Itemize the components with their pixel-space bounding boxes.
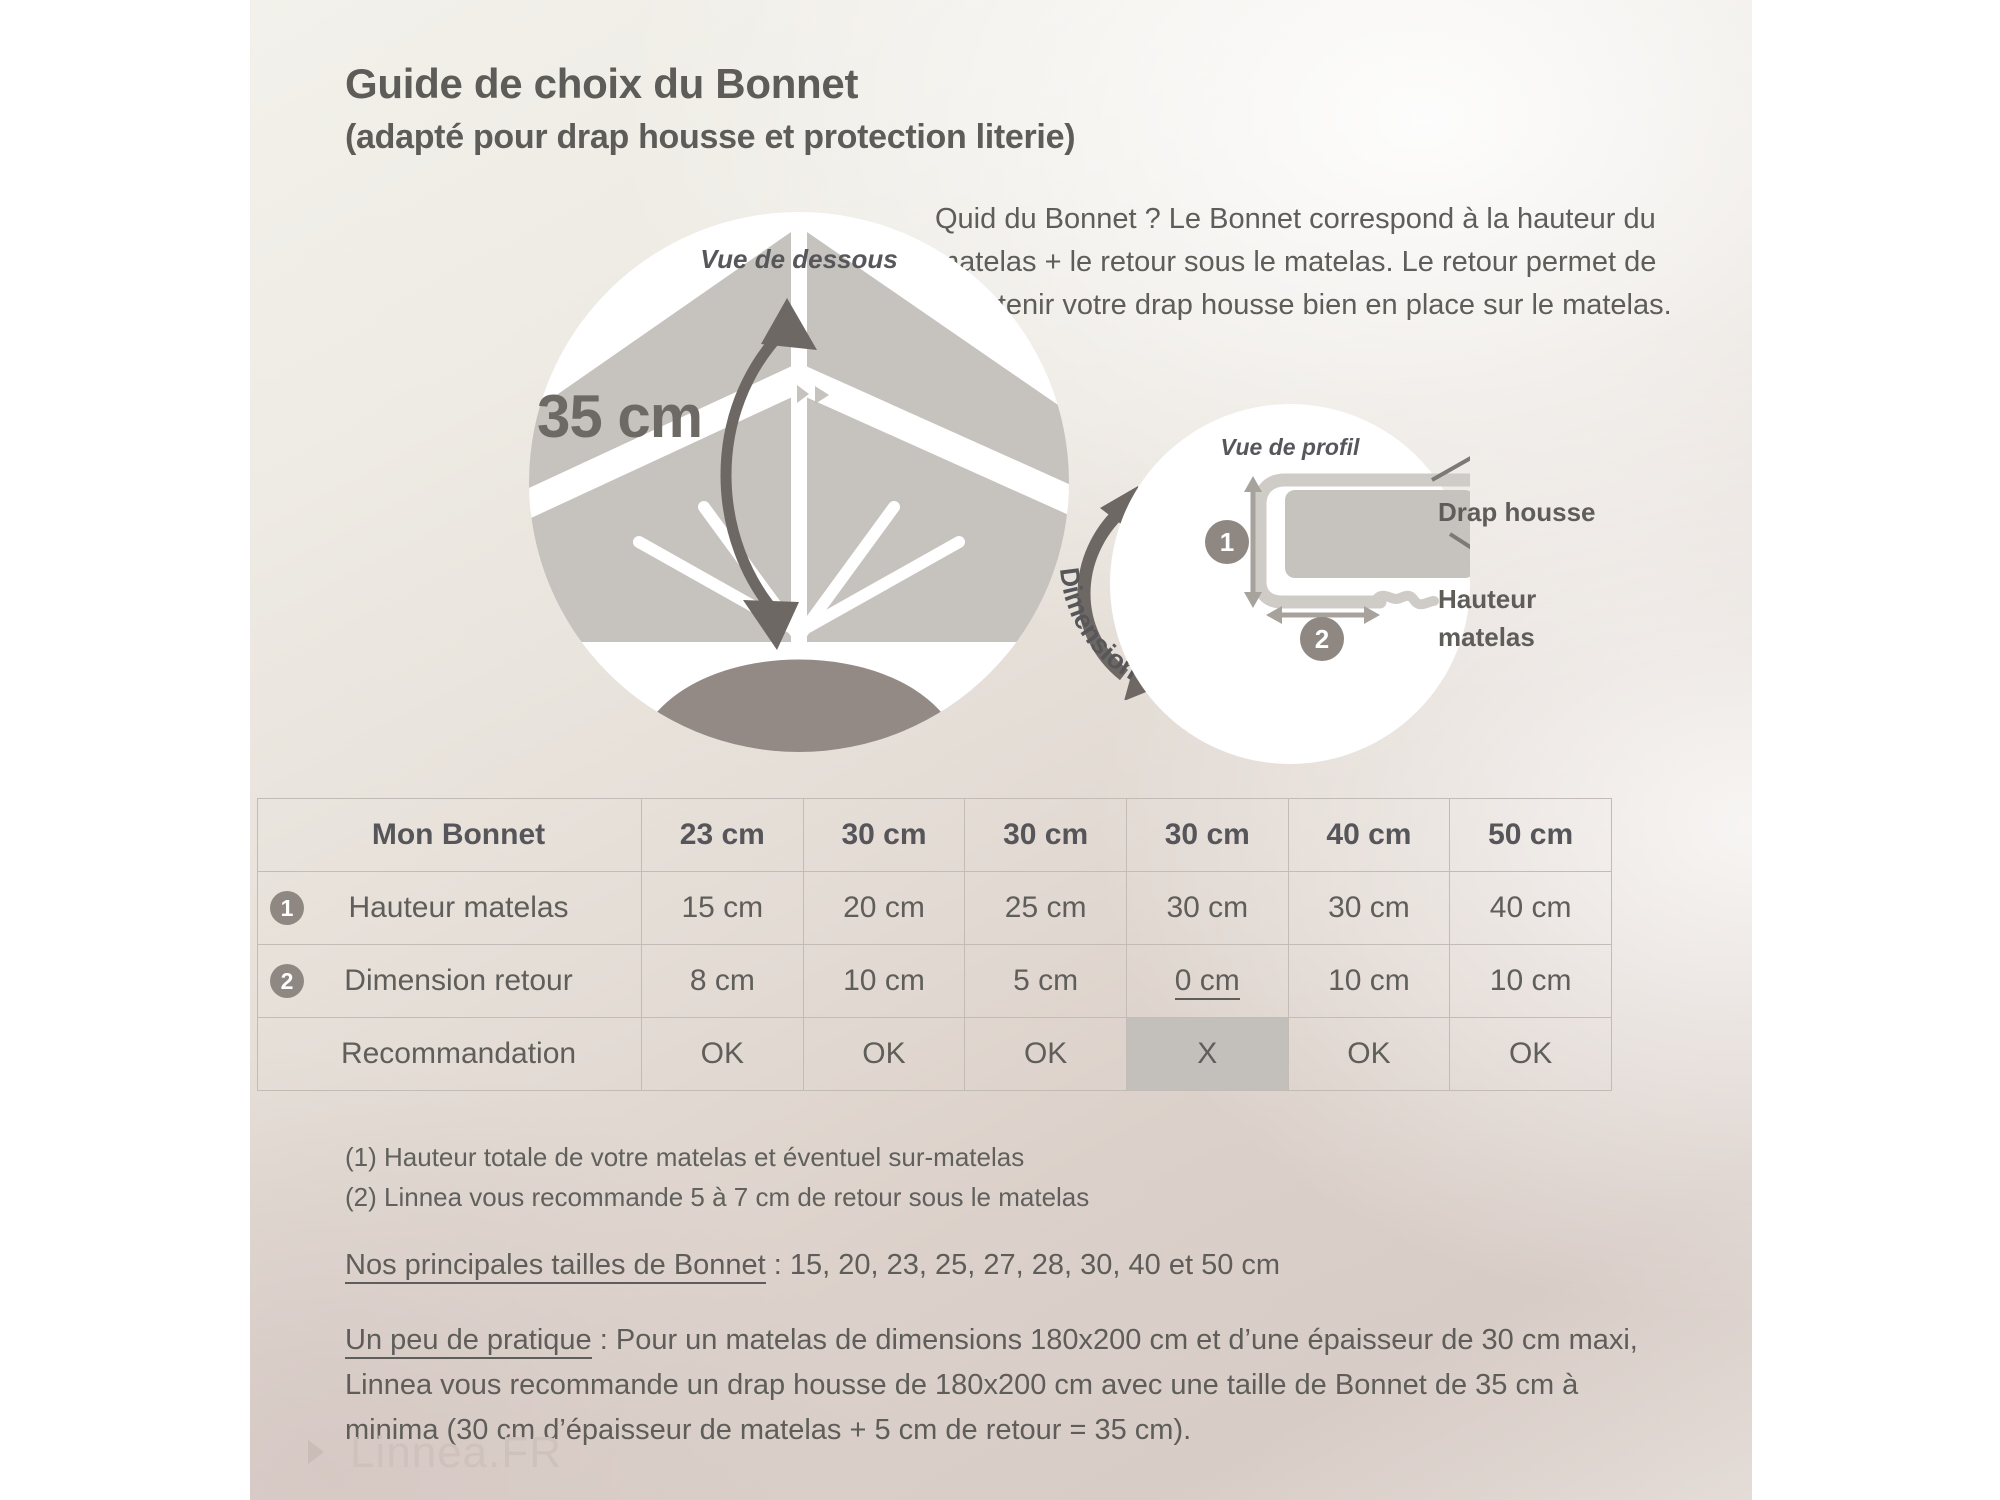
infographic-canvas: Guide de choix du Bonnet (adapté pour dr… bbox=[250, 0, 1752, 1500]
logo-text: Linnea.FR bbox=[350, 1428, 562, 1478]
cell-reco-2: OK bbox=[803, 1018, 965, 1091]
callout-hauteur-line2: matelas bbox=[1438, 618, 1536, 656]
cell-hauteur-5: 30 cm bbox=[1288, 872, 1450, 945]
cell-reco-4: X bbox=[1126, 1018, 1288, 1091]
row-label-mon-bonnet: Mon Bonnet bbox=[258, 799, 642, 872]
cell-retour-6: 10 cm bbox=[1450, 945, 1612, 1018]
table-row: Recommandation OK OK OK X OK OK bbox=[258, 1018, 1612, 1091]
cell-retour-1: 8 cm bbox=[642, 945, 804, 1018]
sizes-value: : 15, 20, 23, 25, 27, 28, 30, 40 et 50 c… bbox=[766, 1249, 1280, 1281]
cell-mon-bonnet-5: 40 cm bbox=[1288, 799, 1450, 872]
row-label-recommandation: Recommandation bbox=[258, 1018, 642, 1091]
cell-hauteur-6: 40 cm bbox=[1450, 872, 1612, 945]
brand-logo: Linnea.FR bbox=[288, 1428, 562, 1478]
cell-reco-1: OK bbox=[642, 1018, 804, 1091]
callout-drap-housse: Drap housse bbox=[1438, 497, 1596, 528]
page-title: Guide de choix du Bonnet bbox=[345, 60, 858, 108]
bonnet-size-table: Mon Bonnet 23 cm 30 cm 30 cm 30 cm 40 cm… bbox=[257, 798, 1612, 1091]
row-label-hauteur-matelas: 1 Hauteur matelas bbox=[258, 872, 642, 945]
diagram-bottom-label: Vue de dessous bbox=[529, 244, 1069, 275]
cell-mon-bonnet-1: 23 cm bbox=[642, 799, 804, 872]
row-label-dimension-retour: 2 Dimension retour bbox=[258, 945, 642, 1018]
svg-text:1: 1 bbox=[1220, 527, 1234, 557]
cell-retour-2: 10 cm bbox=[803, 945, 965, 1018]
svg-text:2: 2 bbox=[1315, 624, 1329, 654]
sizes-label: Nos principales tailles de Bonnet bbox=[345, 1249, 766, 1284]
cell-hauteur-2: 20 cm bbox=[803, 872, 965, 945]
cell-retour-4: 0 cm bbox=[1126, 945, 1288, 1018]
practical-label: Un peu de pratique bbox=[345, 1324, 592, 1359]
bottom-view-illustration bbox=[529, 212, 1069, 752]
cell-hauteur-1: 15 cm bbox=[642, 872, 804, 945]
diagram-vue-de-profil: 1 2 Vue de profil bbox=[1110, 404, 1470, 764]
callout-hauteur-matelas: Hauteur matelas bbox=[1438, 580, 1536, 656]
cell-mon-bonnet-2: 30 cm bbox=[803, 799, 965, 872]
cell-hauteur-4: 30 cm bbox=[1126, 872, 1288, 945]
cell-reco-3: OK bbox=[965, 1018, 1127, 1091]
paragraph-sizes: Nos principales tailles de Bonnet : 15, … bbox=[345, 1243, 1280, 1288]
linnea-diamond-icon bbox=[288, 1432, 334, 1474]
diagram-profile-label: Vue de profil bbox=[1110, 434, 1470, 461]
cell-mon-bonnet-3: 30 cm bbox=[965, 799, 1127, 872]
footnote-2: (2) Linnea vous recommande 5 à 7 cm de r… bbox=[345, 1178, 1089, 1216]
cell-mon-bonnet-4: 30 cm bbox=[1126, 799, 1288, 872]
page-subtitle: (adapté pour drap housse et protection l… bbox=[345, 118, 1075, 157]
cell-hauteur-3: 25 cm bbox=[965, 872, 1127, 945]
infographic-root: Guide de choix du Bonnet (adapté pour dr… bbox=[0, 0, 2000, 1500]
bonnet-measure-label: 35 cm bbox=[537, 382, 702, 451]
cell-reco-6: OK bbox=[1450, 1018, 1612, 1091]
row-badge-2: 2 bbox=[270, 964, 304, 998]
table-row: 2 Dimension retour 8 cm 10 cm 5 cm 0 cm … bbox=[258, 945, 1612, 1018]
table-row: 1 Hauteur matelas 15 cm 20 cm 25 cm 30 c… bbox=[258, 872, 1612, 945]
cell-retour-3: 5 cm bbox=[965, 945, 1127, 1018]
callout-hauteur-line1: Hauteur bbox=[1438, 580, 1536, 618]
cell-reco-5: OK bbox=[1288, 1018, 1450, 1091]
row-badge-1: 1 bbox=[270, 891, 304, 925]
cell-retour-5: 10 cm bbox=[1288, 945, 1450, 1018]
diagram-vue-de-dessous: Vue de dessous 35 cm bbox=[529, 212, 1069, 752]
cell-mon-bonnet-6: 50 cm bbox=[1450, 799, 1612, 872]
footnote-1: (1) Hauteur totale de votre matelas et é… bbox=[345, 1138, 1024, 1176]
table-row: Mon Bonnet 23 cm 30 cm 30 cm 30 cm 40 cm… bbox=[258, 799, 1612, 872]
